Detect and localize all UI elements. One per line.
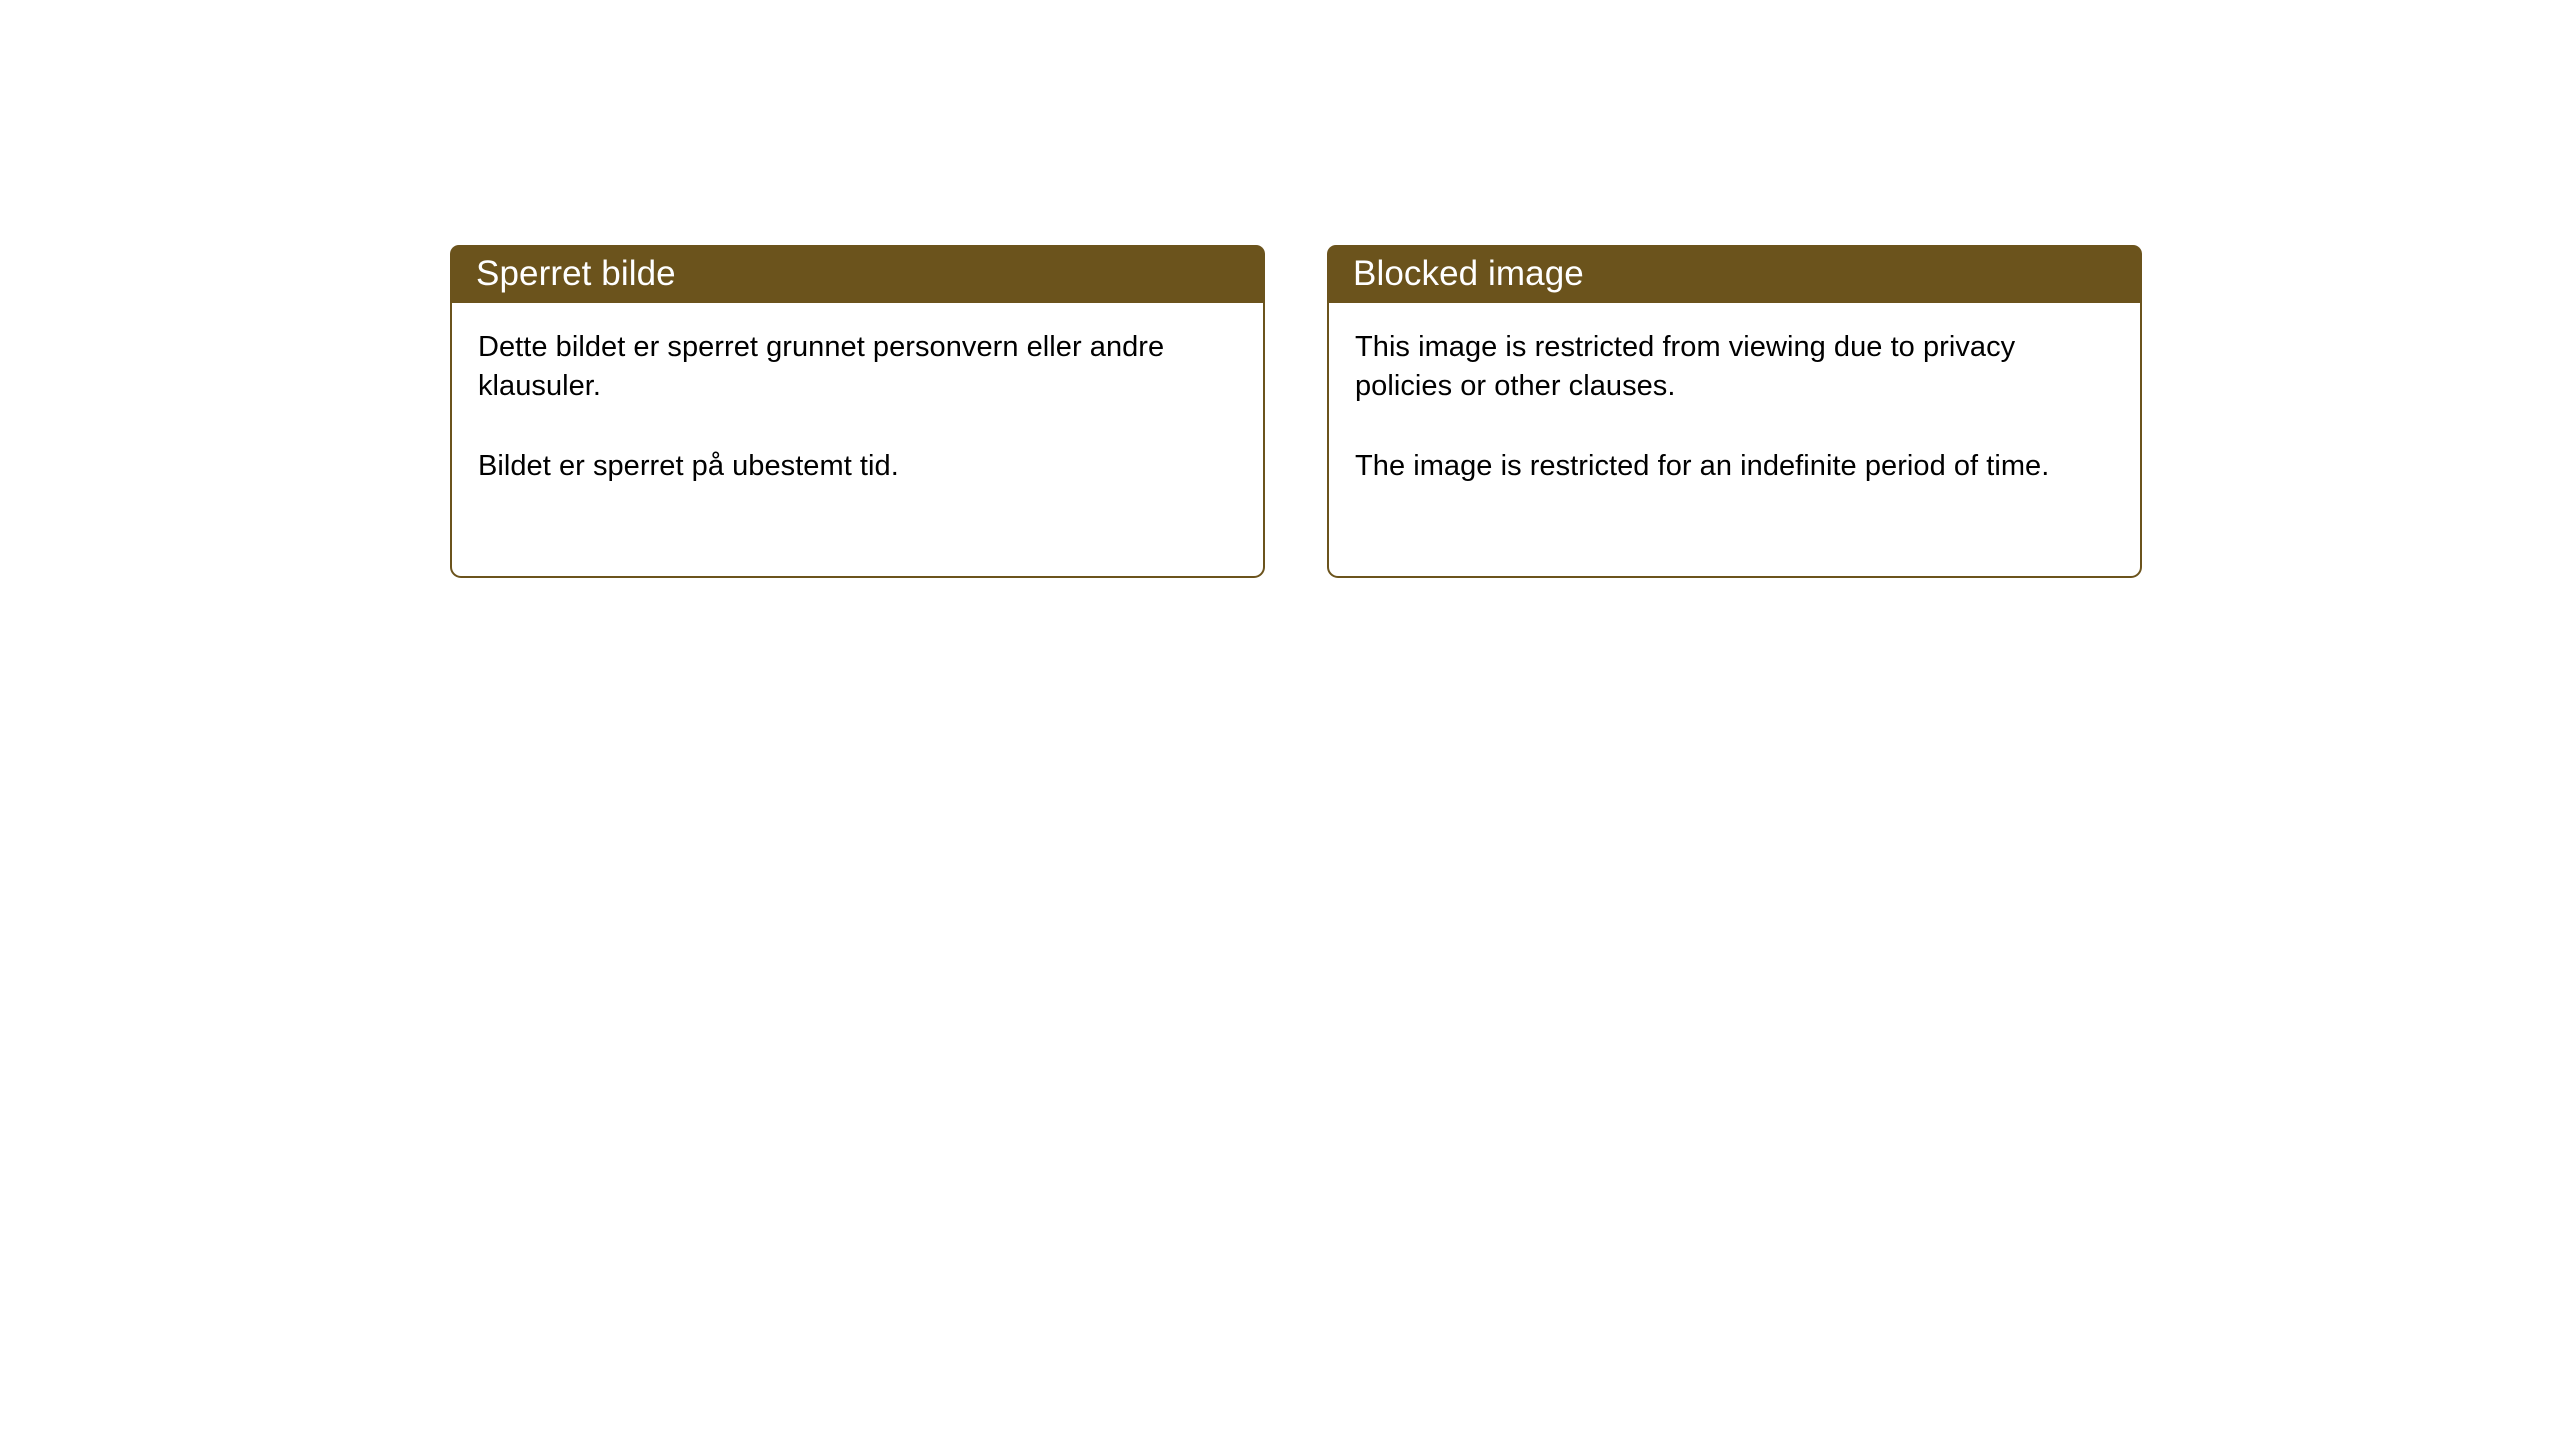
notice-card-body-no: Dette bildet er sperret grunnet personve… bbox=[452, 303, 1263, 576]
notice-card-header-en: Blocked image bbox=[1327, 245, 2142, 303]
blocked-image-notice-card-no: Sperret bilde Dette bildet er sperret gr… bbox=[450, 245, 1265, 578]
blocked-image-notice-card-en: Blocked image This image is restricted f… bbox=[1327, 245, 2142, 578]
paragraph-spacer bbox=[1355, 405, 2114, 447]
paragraph-spacer bbox=[478, 405, 1237, 447]
notice-paragraph-secondary-no: Bildet er sperret på ubestemt tid. bbox=[478, 447, 1237, 486]
notice-card-title-no: Sperret bilde bbox=[476, 256, 676, 293]
notice-paragraph-primary-en: This image is restricted from viewing du… bbox=[1355, 328, 2114, 405]
notice-card-title-en: Blocked image bbox=[1353, 256, 1584, 293]
blocked-image-notice-group: Sperret bilde Dette bildet er sperret gr… bbox=[450, 245, 2142, 578]
page-root: Sperret bilde Dette bildet er sperret gr… bbox=[0, 0, 2560, 1440]
notice-paragraph-secondary-en: The image is restricted for an indefinit… bbox=[1355, 447, 2114, 486]
notice-paragraph-primary-no: Dette bildet er sperret grunnet personve… bbox=[478, 328, 1237, 405]
notice-card-body-en: This image is restricted from viewing du… bbox=[1329, 303, 2140, 576]
notice-card-header-no: Sperret bilde bbox=[450, 245, 1265, 303]
